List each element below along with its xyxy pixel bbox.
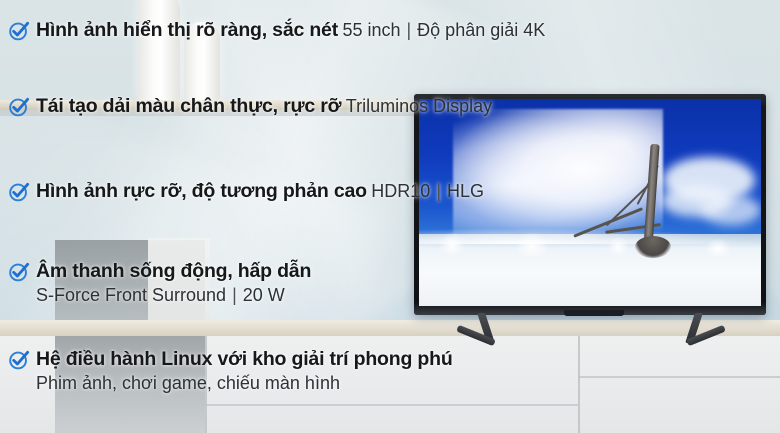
- feature-sub-part: Độ phân giải 4K: [417, 20, 545, 40]
- feature-title: Hình ảnh hiển thị rõ ràng, sắc nét: [36, 19, 338, 41]
- screen-tree-base: [635, 236, 671, 258]
- screen-shrub: [607, 236, 629, 254]
- feature-separator: |: [430, 181, 447, 201]
- feature-title: Hình ảnh rực rỡ, độ tương phản cao: [36, 180, 367, 202]
- decor-vase: [138, 0, 180, 102]
- screen-frosted-canopy: [453, 109, 663, 239]
- feature-subtitle: Triluminos Display: [346, 96, 492, 116]
- check-circle-icon: [8, 20, 30, 42]
- screen-shrub: [439, 232, 465, 254]
- screen-shrub: [705, 238, 731, 256]
- feature-title: Âm thanh sống động, hấp dẫn: [36, 260, 311, 282]
- console-seam: [578, 376, 780, 378]
- feature-sub-part: HDR10: [371, 181, 430, 201]
- feature-sub-part: 20 W: [243, 285, 285, 305]
- screen-shrub: [515, 232, 549, 256]
- feature-subtitle: S-Force Front Surround|20 W: [36, 285, 285, 305]
- feature-separator: |: [400, 20, 417, 40]
- feature-sub-part: 55 inch: [342, 20, 400, 40]
- feature-subtitle: 55 inch|Độ phân giải 4K: [342, 20, 545, 40]
- feature-separator: |: [226, 285, 243, 305]
- feature-item-audio: Âm thanh sống động, hấp dẫn S-Force Fron…: [8, 259, 560, 307]
- console-seam: [578, 336, 580, 433]
- product-feature-banner: Hình ảnh hiển thị rõ ràng, sắc nét 55 in…: [0, 0, 780, 433]
- tv-chin: [564, 310, 624, 316]
- feature-sub-part: Triluminos Display: [346, 96, 492, 116]
- console-top-surface: [0, 320, 780, 336]
- feature-item-os: Hệ điều hành Linux với kho giải trí phon…: [8, 347, 560, 395]
- feature-item-color: Tái tạo dải màu chân thực, rực rỡ Trilum…: [8, 94, 492, 118]
- feature-item-hdr: Hình ảnh rực rỡ, độ tương phản cao HDR10…: [8, 179, 484, 203]
- feature-sub-part: S-Force Front Surround: [36, 285, 226, 305]
- feature-item-display: Hình ảnh hiển thị rõ ràng, sắc nét 55 in…: [8, 18, 545, 42]
- check-circle-icon: [8, 349, 30, 371]
- feature-title: Tái tạo dải màu chân thực, rực rỡ: [36, 95, 341, 117]
- feature-subtitle: HDR10|HLG: [371, 181, 484, 201]
- check-circle-icon: [8, 181, 30, 203]
- check-circle-icon: [8, 96, 30, 118]
- feature-title: Hệ điều hành Linux với kho giải trí phon…: [36, 348, 453, 370]
- screen-cloud: [701, 195, 761, 225]
- feature-sub-part: HLG: [447, 181, 484, 201]
- feature-sub-part: Phim ảnh, chơi game, chiếu màn hình: [36, 373, 340, 393]
- console-seam: [205, 404, 578, 406]
- feature-subtitle: Phim ảnh, chơi game, chiếu màn hình: [36, 373, 340, 393]
- check-circle-icon: [8, 261, 30, 283]
